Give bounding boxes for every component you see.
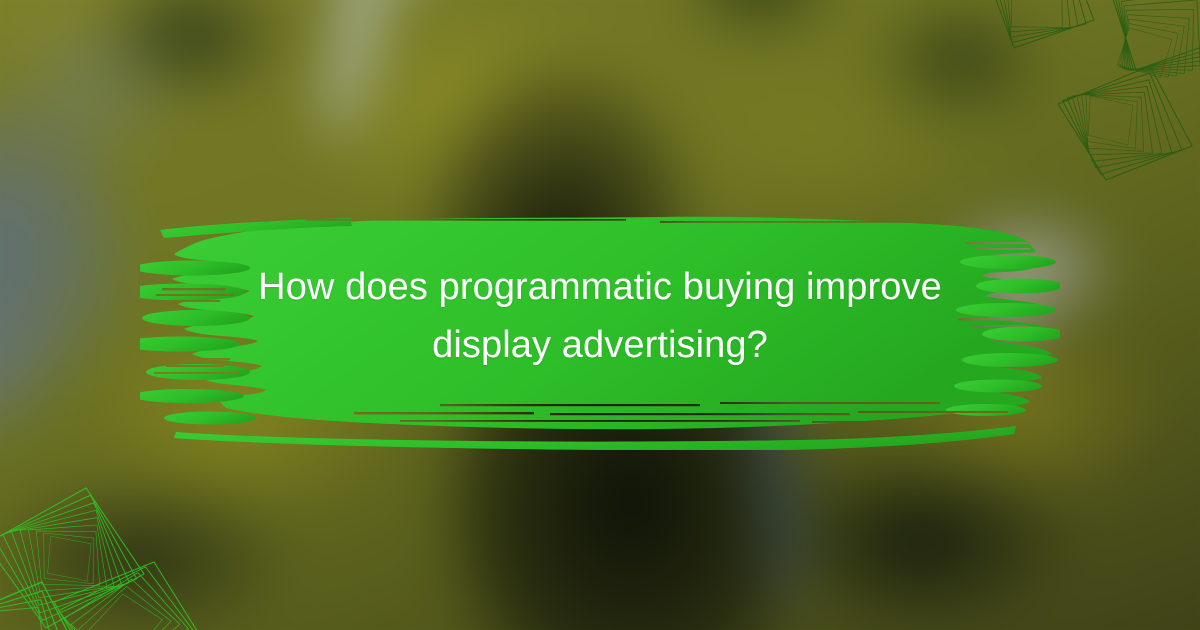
social-share-card: How does programmatic buying improve dis… — [0, 0, 1200, 630]
headline-line-1: How does programmatic buying improve — [258, 258, 942, 316]
headline-line-2: display advertising? — [432, 316, 768, 374]
headline: How does programmatic buying improve dis… — [200, 182, 1000, 450]
